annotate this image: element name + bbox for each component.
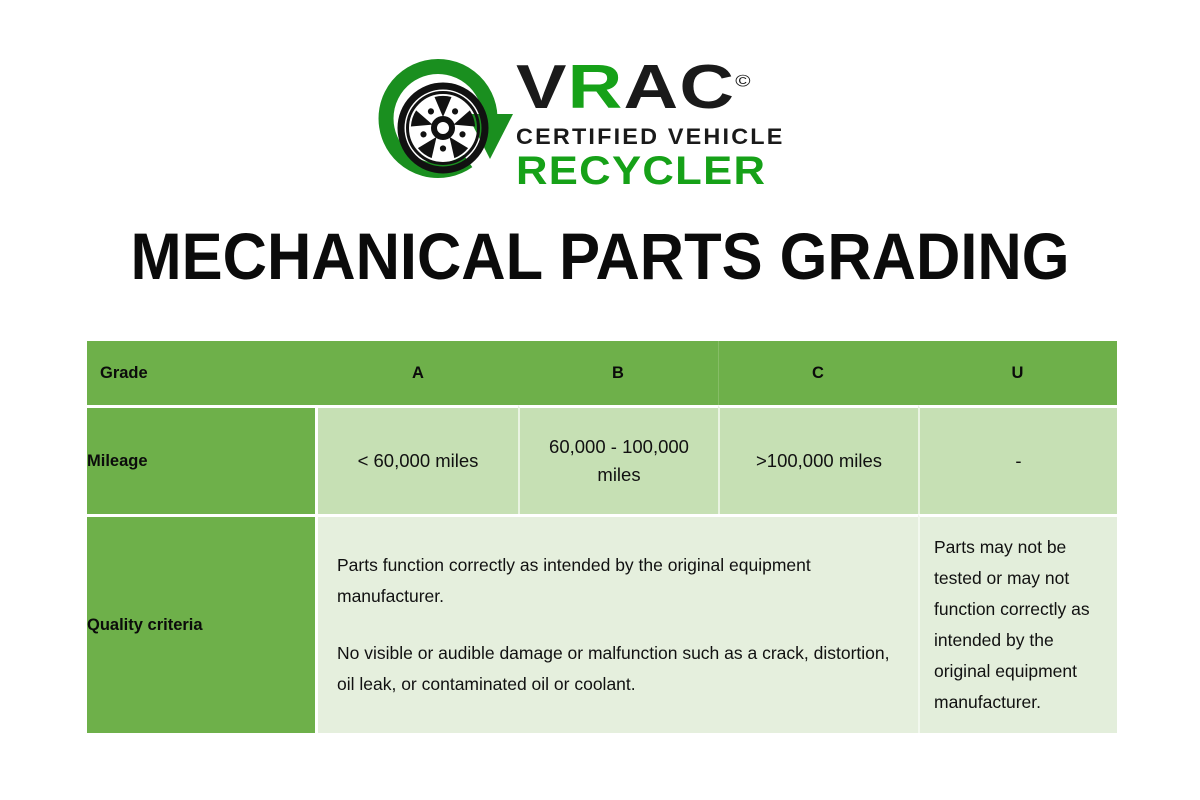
mechanical-parts-grading-table: Grade A B C U Mileage < 60,000 miles 60,… (87, 341, 1117, 733)
quality-paragraph-2: No visible or audible damage or malfunct… (337, 638, 896, 700)
mileage-cell-a: < 60,000 miles (318, 405, 518, 514)
row-label-mileage: Mileage (87, 405, 318, 514)
header-grade-b: B (518, 341, 718, 405)
logo-subbrand: RECYCLER (516, 151, 797, 192)
table-row-mileage: Mileage < 60,000 miles 60,000 - 100,000 … (87, 405, 1117, 514)
page-root: VRAC© CERTIFIED VEHICLE RECYCLER MECHANI… (0, 0, 1200, 800)
table-header-row: Grade A B C U (87, 341, 1117, 405)
mileage-cell-c: >100,000 miles (718, 405, 918, 514)
brand-letters-ac: AC (624, 53, 736, 122)
header-grade-c: C (718, 341, 918, 405)
quality-cell-abc: Parts function correctly as intended by … (318, 514, 918, 733)
mileage-cell-b: 60,000 - 100,000 miles (518, 405, 718, 514)
recycle-wheel-icon (372, 55, 514, 195)
quality-paragraph-1: Parts function correctly as intended by … (337, 550, 896, 612)
header-grade-label: Grade (87, 341, 318, 405)
mileage-cell-u: - (918, 405, 1117, 514)
page-title: MECHANICAL PARTS GRADING (42, 218, 1158, 294)
copyright-icon: © (735, 71, 750, 90)
logo-tagline: CERTIFIED VEHICLE (516, 124, 785, 150)
header-grade-a: A (318, 341, 518, 405)
brand-letter-r: R (568, 53, 624, 122)
brand-letter-v: V (516, 53, 568, 122)
table-row-quality-criteria: Quality criteria Parts function correctl… (87, 514, 1117, 733)
header-grade-u: U (918, 341, 1117, 405)
quality-cell-u: Parts may not be tested or may not funct… (918, 514, 1117, 733)
row-label-quality-criteria: Quality criteria (87, 514, 318, 733)
logo-wordmark: VRAC© CERTIFIED VEHICLE RECYCLER (516, 55, 774, 192)
brand-name: VRAC© (516, 59, 831, 118)
vrac-logo: VRAC© CERTIFIED VEHICLE RECYCLER (372, 55, 842, 205)
